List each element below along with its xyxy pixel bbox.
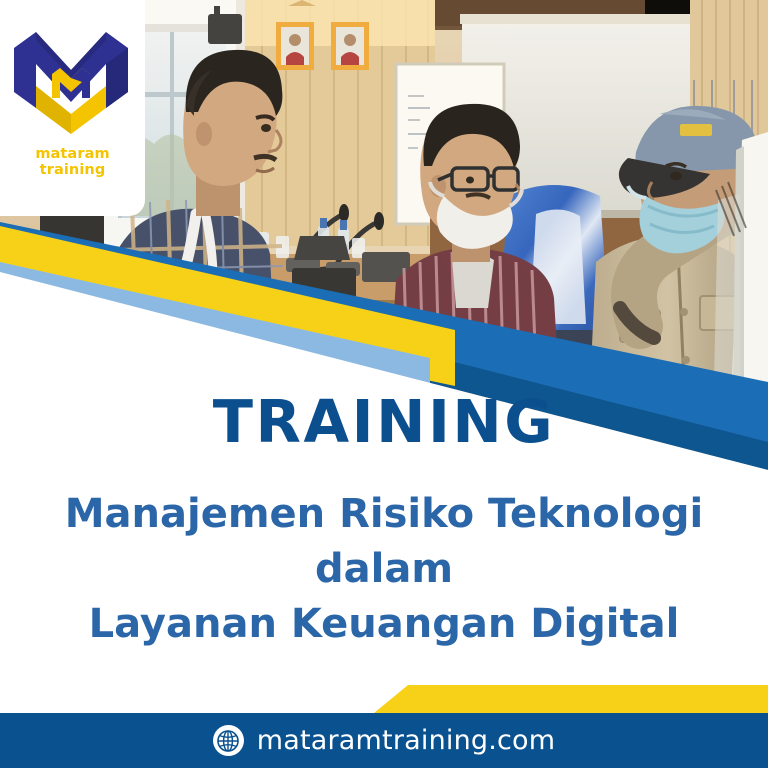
training-poster: mataram training TRAINING Manajemen Risi… (0, 0, 768, 768)
subtitle-line-1: Manajemen Risiko Teknologi dalam (26, 487, 742, 597)
subtitle-line-2: Layanan Keuangan Digital (26, 597, 742, 652)
footer-bar: mataramtraining.com (0, 713, 768, 768)
page-subtitle: Manajemen Risiko Teknologi dalam Layanan… (0, 487, 768, 653)
globe-icon (213, 725, 244, 756)
logo-panel: mataram training (0, 0, 145, 216)
headline-block: TRAINING Manajemen Risiko Teknologi dala… (0, 392, 768, 653)
brand-logo: mataram training (0, 0, 145, 216)
footer-yellow-accent (374, 685, 768, 713)
website-url[interactable]: mataramtraining.com (257, 725, 556, 756)
footer-content: mataramtraining.com (213, 725, 556, 756)
page-title: TRAINING (0, 392, 768, 451)
logo-wordmark: mataram training (0, 146, 145, 178)
mataram-m-icon (12, 30, 130, 136)
